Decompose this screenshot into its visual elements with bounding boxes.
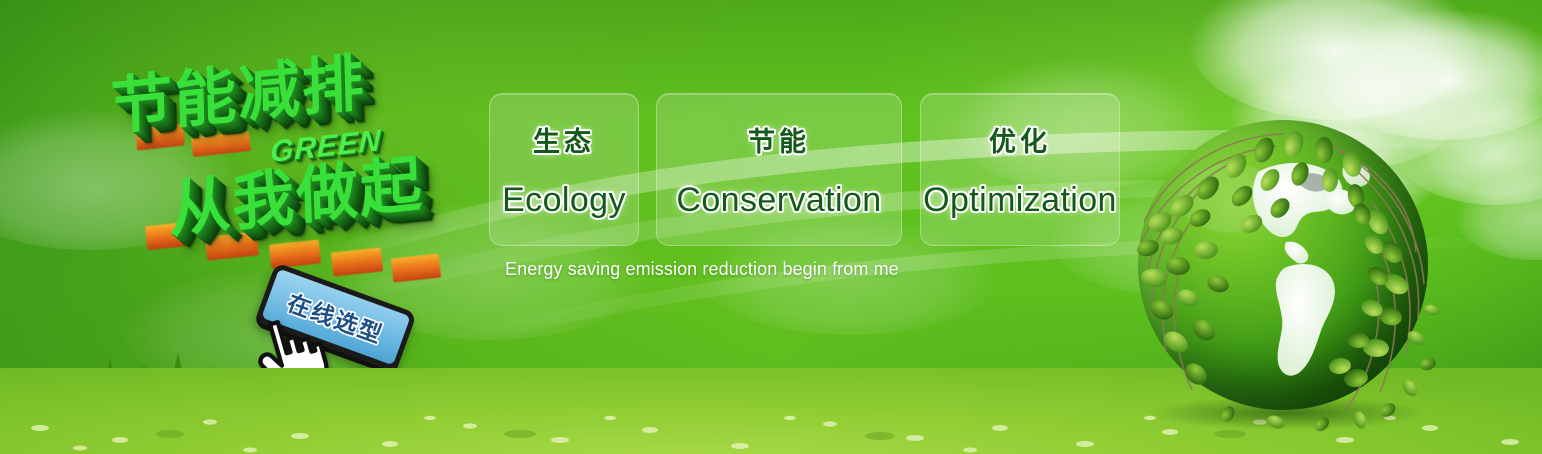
- leafy-earth-globe-icon: [1128, 114, 1438, 424]
- hero-title: 节能减排 GREEN 从我做起: [100, 38, 490, 268]
- feature-card-ecology[interactable]: 生态 Ecology: [489, 93, 639, 246]
- feature-card-title-cn: 生态: [533, 120, 595, 159]
- feature-card-conservation[interactable]: 节能 Conservation: [656, 93, 902, 246]
- feature-card-title-en: Ecology: [502, 181, 626, 220]
- feature-card-title-cn: 优化: [989, 120, 1051, 159]
- green-banner: 节能减排 GREEN 从我做起 生态 Ecology 节能 Conservati…: [0, 0, 1542, 454]
- feature-card-title-en: Conservation: [676, 181, 881, 220]
- feature-card-title-en: Optimization: [923, 181, 1117, 220]
- feature-card-optimization[interactable]: 优化 Optimization: [920, 93, 1120, 246]
- tagline: Energy saving emission reduction begin f…: [505, 259, 899, 280]
- feature-card-title-cn: 节能: [748, 120, 810, 159]
- continents-icon: [1138, 120, 1428, 410]
- globe-sphere: [1138, 120, 1428, 410]
